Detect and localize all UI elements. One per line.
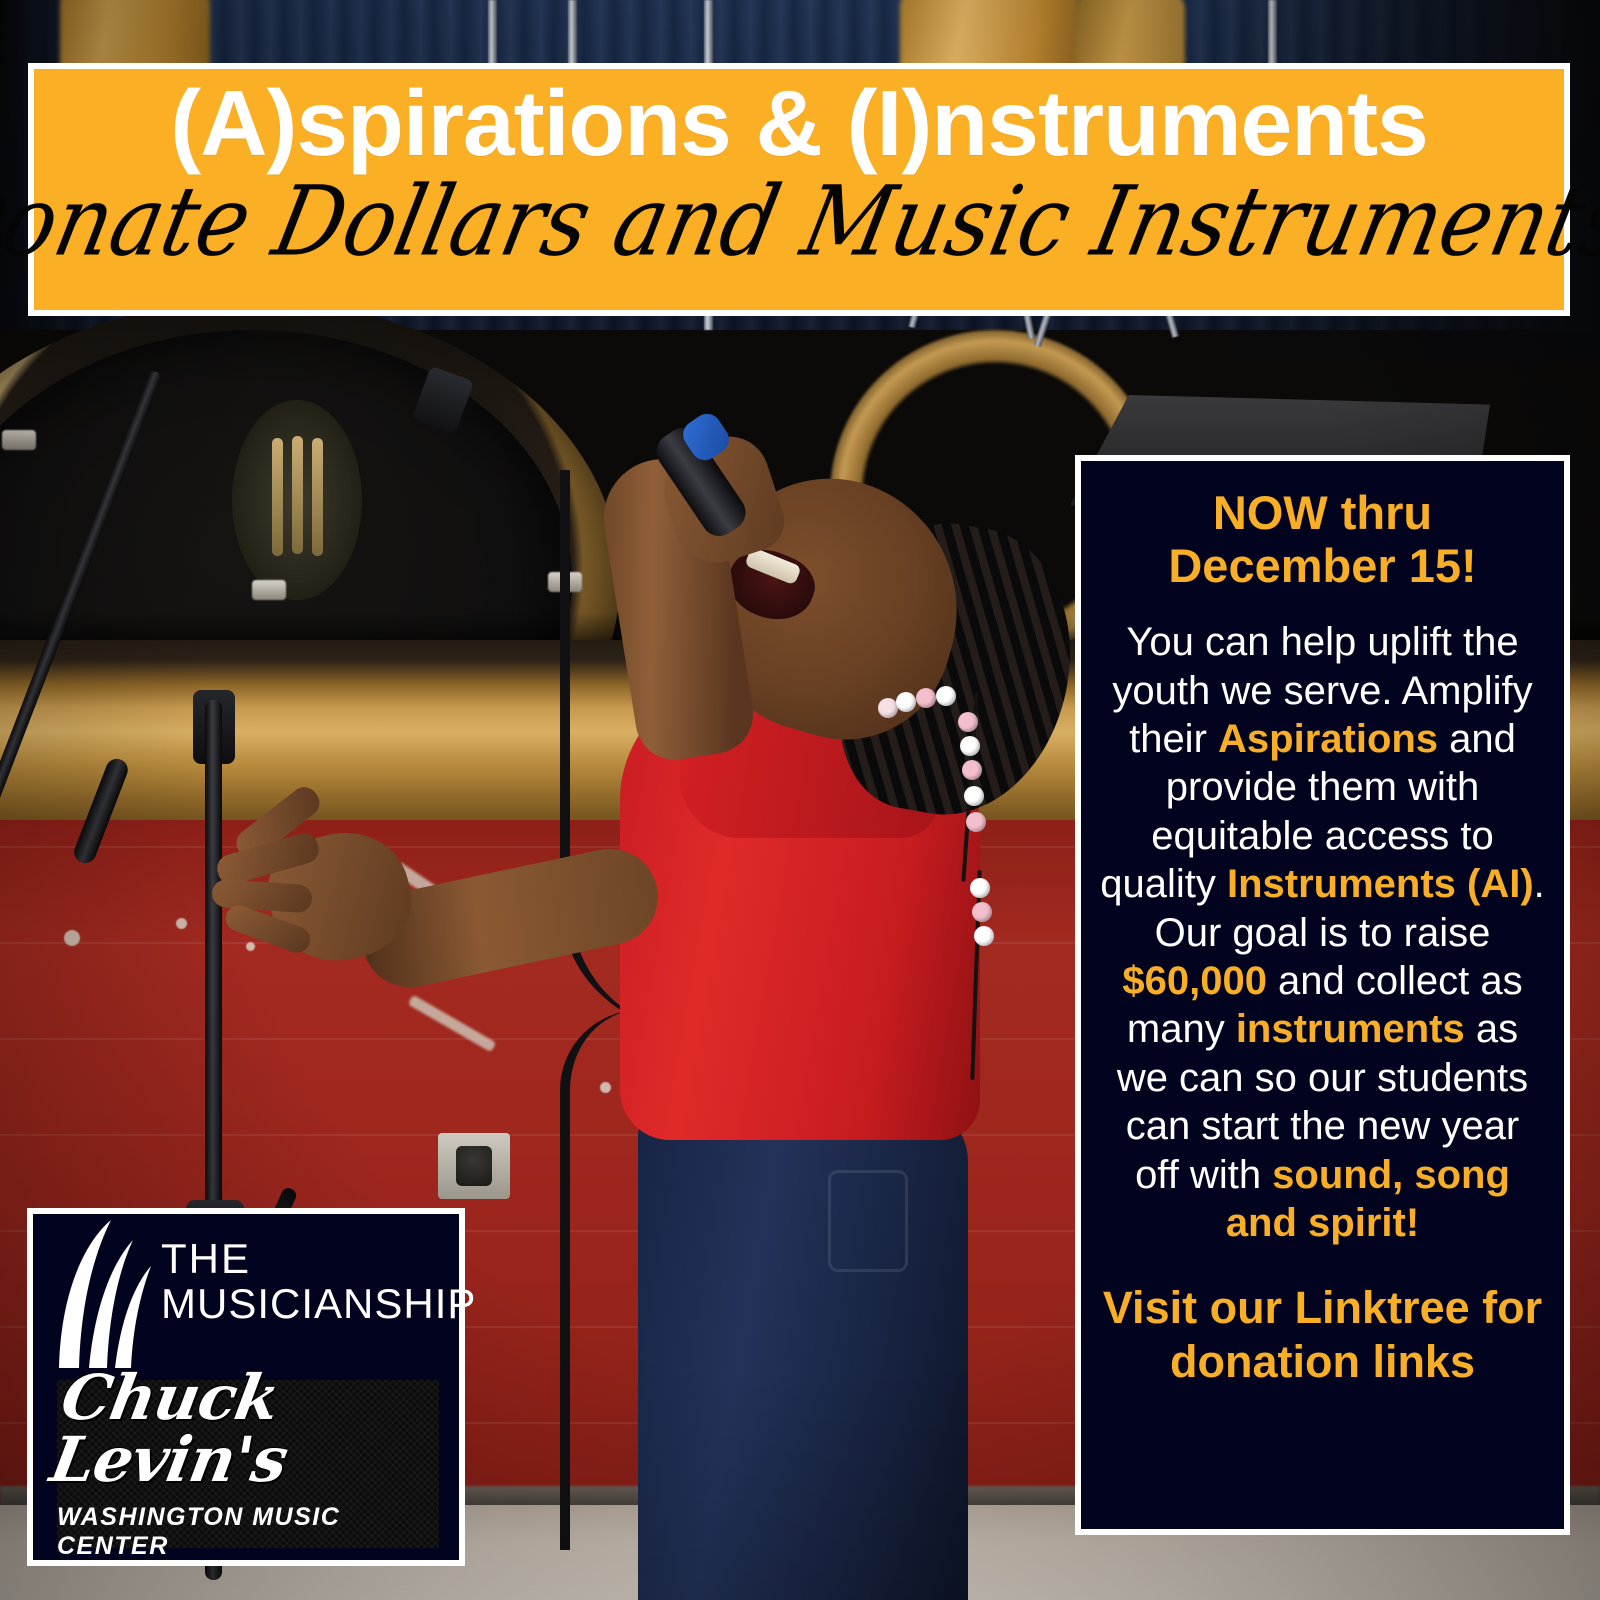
hair-bead xyxy=(936,686,956,706)
highlight-aspirations: Aspirations xyxy=(1218,717,1438,761)
org-line-2: MUSICIANSHIP xyxy=(161,1281,445,1326)
banner-subtitle: Donate Dollars and Music Instruments! xyxy=(0,174,1600,270)
banner-title: (A)spirations & (I)nstruments xyxy=(170,73,1428,173)
wall-speck xyxy=(64,930,80,946)
campaign-description: You can help uplift the youth we serve. … xyxy=(1099,618,1546,1247)
drum-port-stripe xyxy=(272,438,283,556)
highlight-instruments: instruments xyxy=(1236,1007,1465,1051)
drum-port-stripe xyxy=(312,438,323,556)
chuck-levins-logo: Chuck Levin's WASHINGTON MUSIC CENTER xyxy=(57,1380,439,1548)
hair-bead xyxy=(896,692,916,712)
drum-lug xyxy=(252,580,286,600)
hair-bead xyxy=(958,712,978,732)
hair-bead xyxy=(972,902,992,922)
singer-figure xyxy=(560,430,1080,1600)
singer-pants xyxy=(638,1102,968,1600)
highlight-instruments-ai: Instruments (AI) xyxy=(1227,862,1534,906)
desc-part-6: ! xyxy=(1406,1201,1419,1245)
hair-bead xyxy=(966,812,986,832)
logo-block: THE MUSICIANSHIP Chuck Levin's WASHINGTO… xyxy=(27,1208,465,1566)
campaign-deadline-heading: NOW thru December 15! xyxy=(1099,487,1546,592)
hair-bead xyxy=(970,878,990,898)
hair-bead xyxy=(974,926,994,946)
campaign-info-panel: NOW thru December 15! You can help uplif… xyxy=(1075,455,1570,1535)
hair-bead xyxy=(962,760,982,780)
pants-pocket xyxy=(828,1170,908,1272)
musicianship-wordmark: THE MUSICIANSHIP xyxy=(161,1236,445,1327)
promotional-poster: (A)spirations & (I)nstruments Donate Dol… xyxy=(0,0,1600,1600)
musicianship-logo: THE MUSICIANSHIP xyxy=(43,1224,449,1374)
hair-bead xyxy=(964,786,984,806)
drum-lug xyxy=(2,430,36,450)
wall-speck xyxy=(176,918,187,929)
hair-bead xyxy=(960,736,980,756)
hair-bead xyxy=(916,688,936,708)
drum-port-stripe xyxy=(292,436,303,554)
chuck-levins-script: Chuck Levin's xyxy=(46,1367,450,1491)
wing-swoosh-icon xyxy=(51,1218,161,1368)
wall-speck xyxy=(246,942,255,951)
org-line-1: THE xyxy=(161,1236,445,1281)
header-banner: (A)spirations & (I)nstruments Donate Dol… xyxy=(28,63,1570,316)
linktree-call-to-action[interactable]: Visit our Linktree for donation links xyxy=(1099,1281,1546,1389)
wall-outlet xyxy=(438,1133,510,1199)
washington-music-center-label: WASHINGTON MUSIC CENTER xyxy=(57,1503,439,1561)
hair-bead xyxy=(878,698,898,718)
highlight-goal-amount: $60,000 xyxy=(1122,959,1267,1003)
